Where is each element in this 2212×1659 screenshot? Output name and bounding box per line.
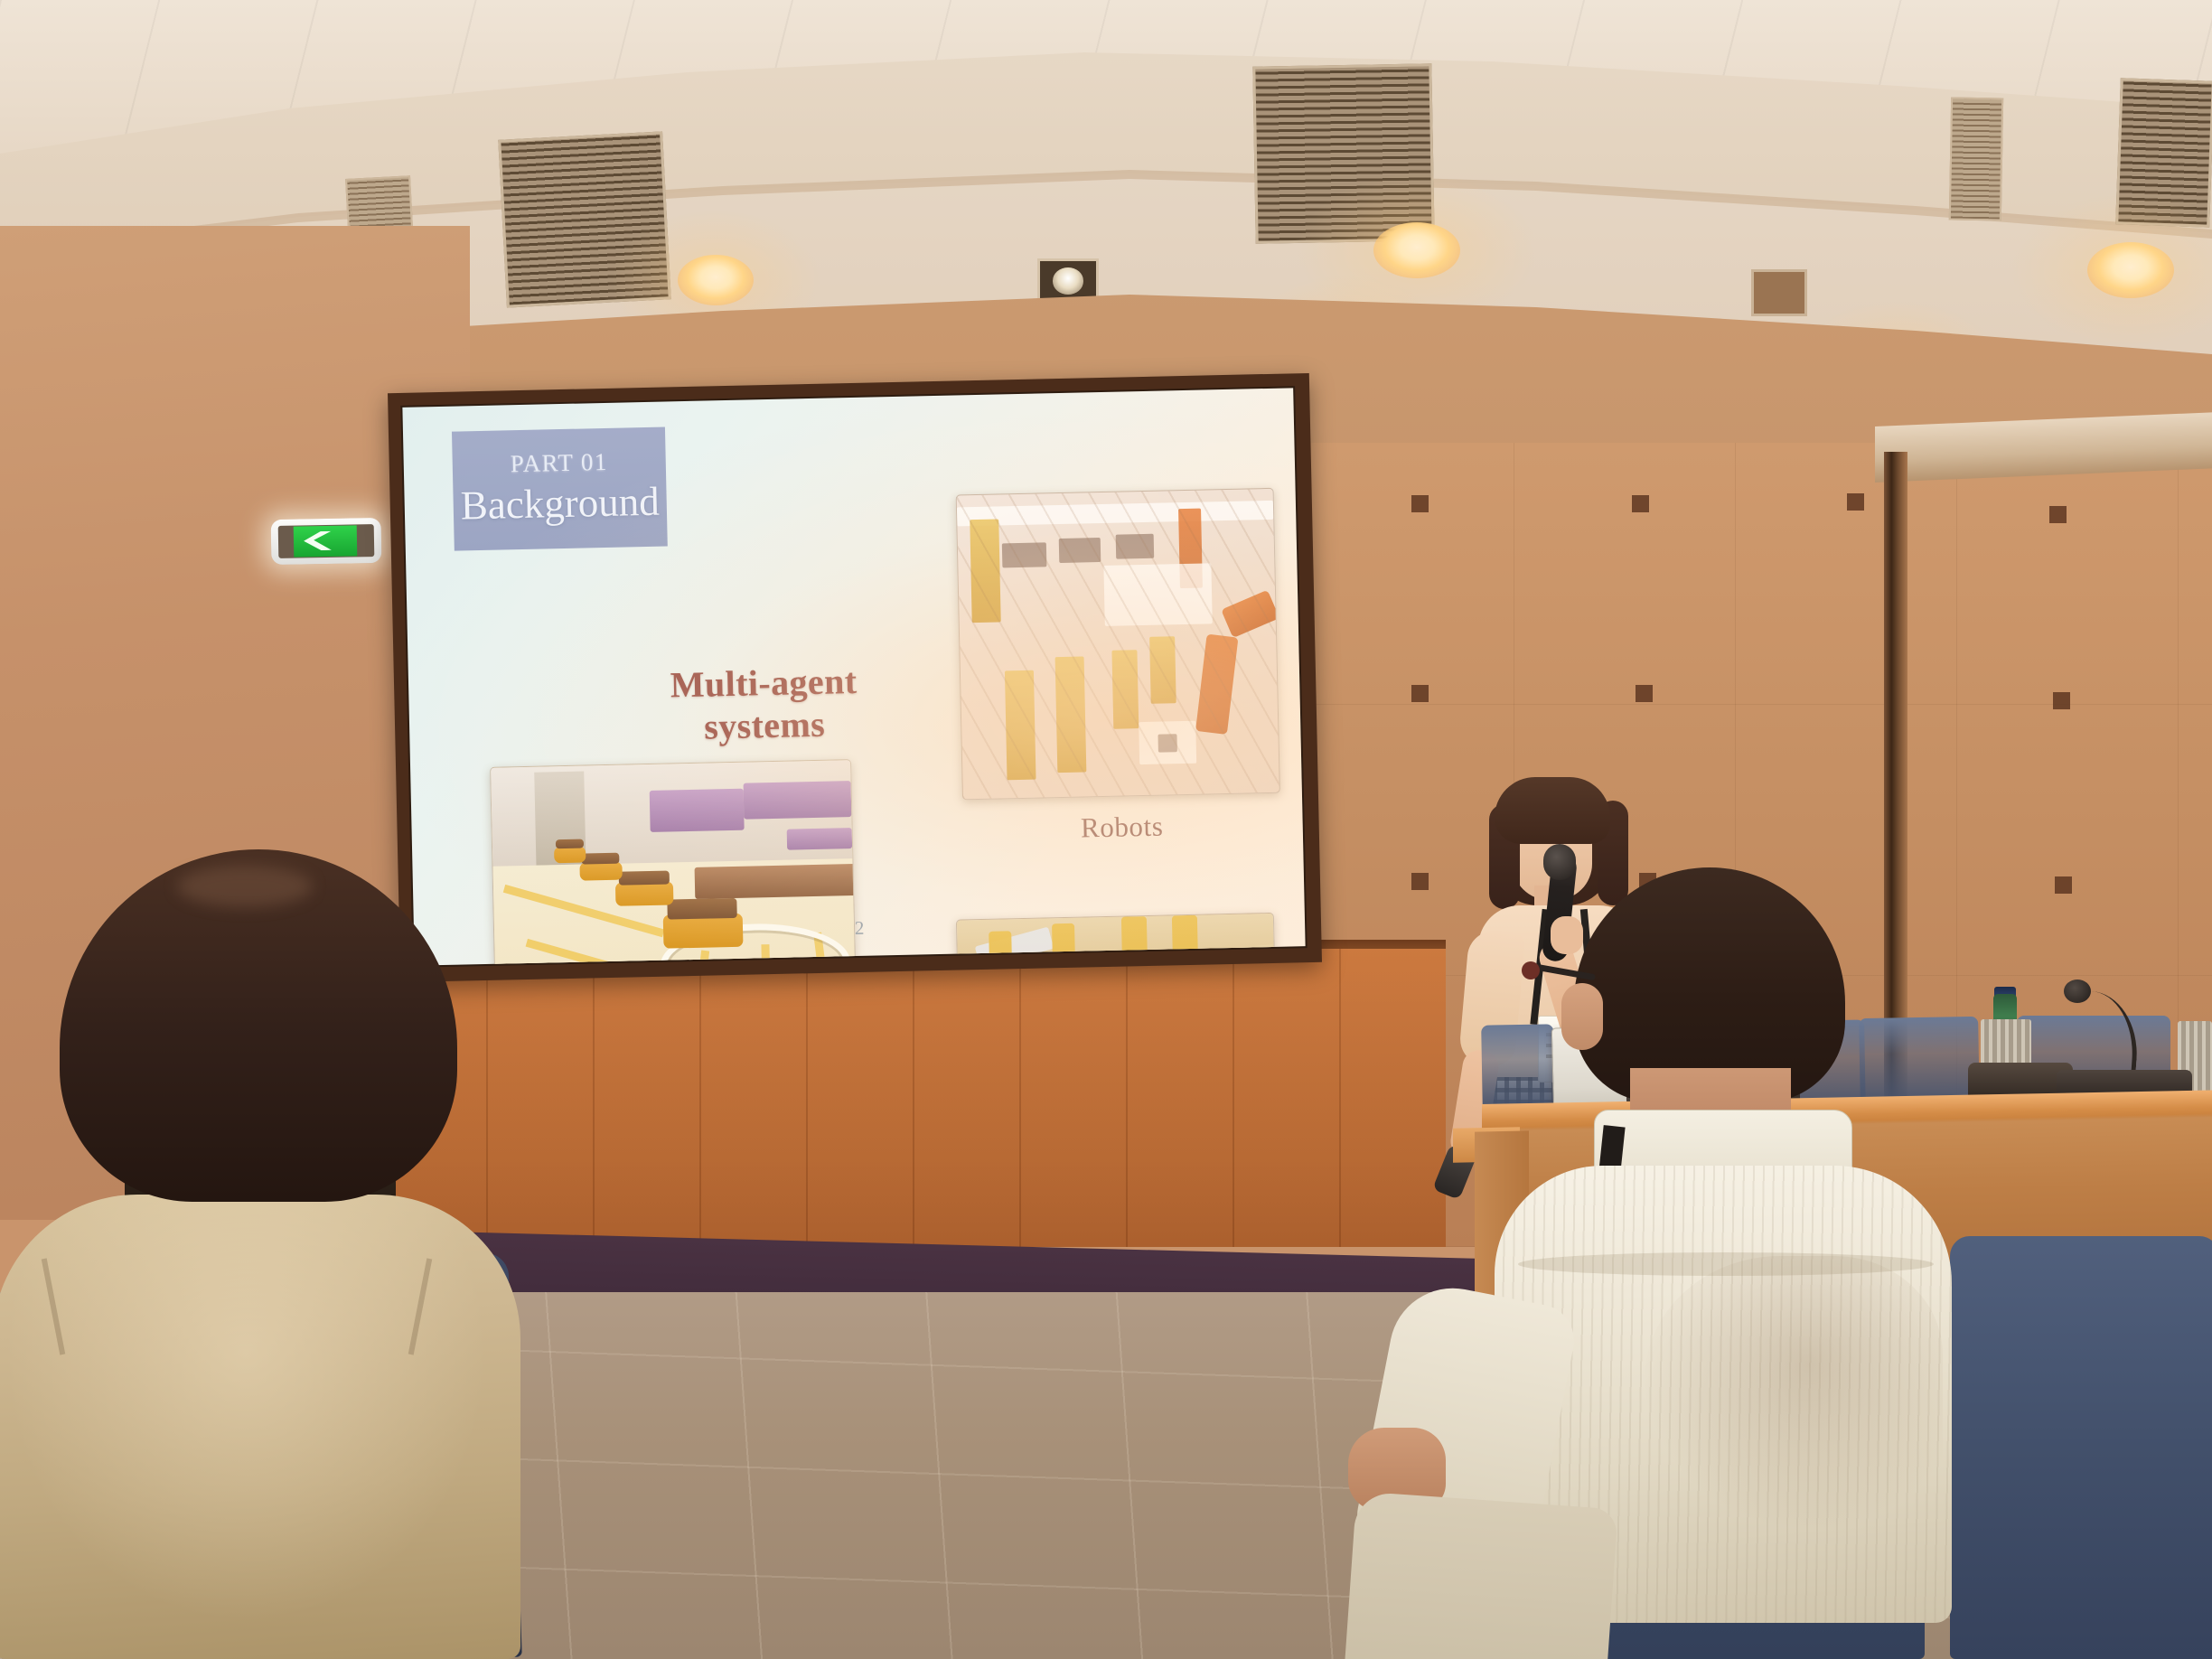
robot-photo-texture <box>957 489 1279 800</box>
audience-woman-hair <box>60 849 457 1202</box>
audience-member-foreground <box>0 849 533 1659</box>
agv-photo-rack <box>787 828 852 850</box>
robots-photo <box>956 488 1280 801</box>
running-man-exit-icon <box>294 526 358 557</box>
eyeglasses-hinge-icon <box>1522 961 1540 979</box>
slide-part-badge: PART 01 Background <box>452 426 668 550</box>
agv-cart <box>579 861 623 880</box>
robots-caption: Robots <box>962 808 1281 848</box>
wall-stud <box>2053 692 2070 709</box>
wall-stud <box>1632 495 1649 512</box>
audience-woman-cardigan <box>0 1195 520 1659</box>
wall-stud <box>1636 685 1653 702</box>
wall-stud <box>1411 873 1429 890</box>
wall-stud <box>2049 506 2067 523</box>
slide-heading: Multi-agent systems <box>614 659 914 750</box>
slide-part-label: PART 01 <box>452 446 666 479</box>
conference-room-scene: PART 01 Background Multi-agent systems A… <box>0 0 2212 1659</box>
stage-wood-wall <box>380 949 1446 1247</box>
audience-man-leg <box>1336 1491 1618 1659</box>
emergency-exit-sign <box>271 518 382 565</box>
air-vent-icon <box>1949 98 2003 221</box>
wall-stud <box>1411 685 1429 702</box>
audience-man-ear <box>1561 983 1603 1050</box>
agv-photo-rail <box>694 864 857 899</box>
ceiling-downlight <box>1373 222 1460 278</box>
agv-cart <box>554 847 586 863</box>
exit-sign-inner <box>278 524 375 558</box>
wall-stud <box>1411 495 1429 512</box>
agv-cart <box>615 881 673 905</box>
audience-man-hair <box>1574 867 1845 1102</box>
audience-member-right <box>1482 867 1988 1659</box>
ceiling-spotlight-icon <box>1751 269 1807 316</box>
ceiling-downlight <box>2087 242 2174 298</box>
wall-stud <box>2055 876 2072 894</box>
presenter-hair-fringe <box>1495 777 1610 844</box>
microphone-head-icon <box>2064 979 2091 1003</box>
agv-photo-rack <box>743 781 851 820</box>
slide-part-title: Background <box>453 477 667 529</box>
agv-photo-rack <box>650 789 744 832</box>
projection-screen: PART 01 Background Multi-agent systems A… <box>402 388 1305 965</box>
ceiling-downlight <box>678 255 754 305</box>
wall-stud <box>1847 493 1864 511</box>
audience-chair-right[interactable] <box>1950 1236 2212 1659</box>
